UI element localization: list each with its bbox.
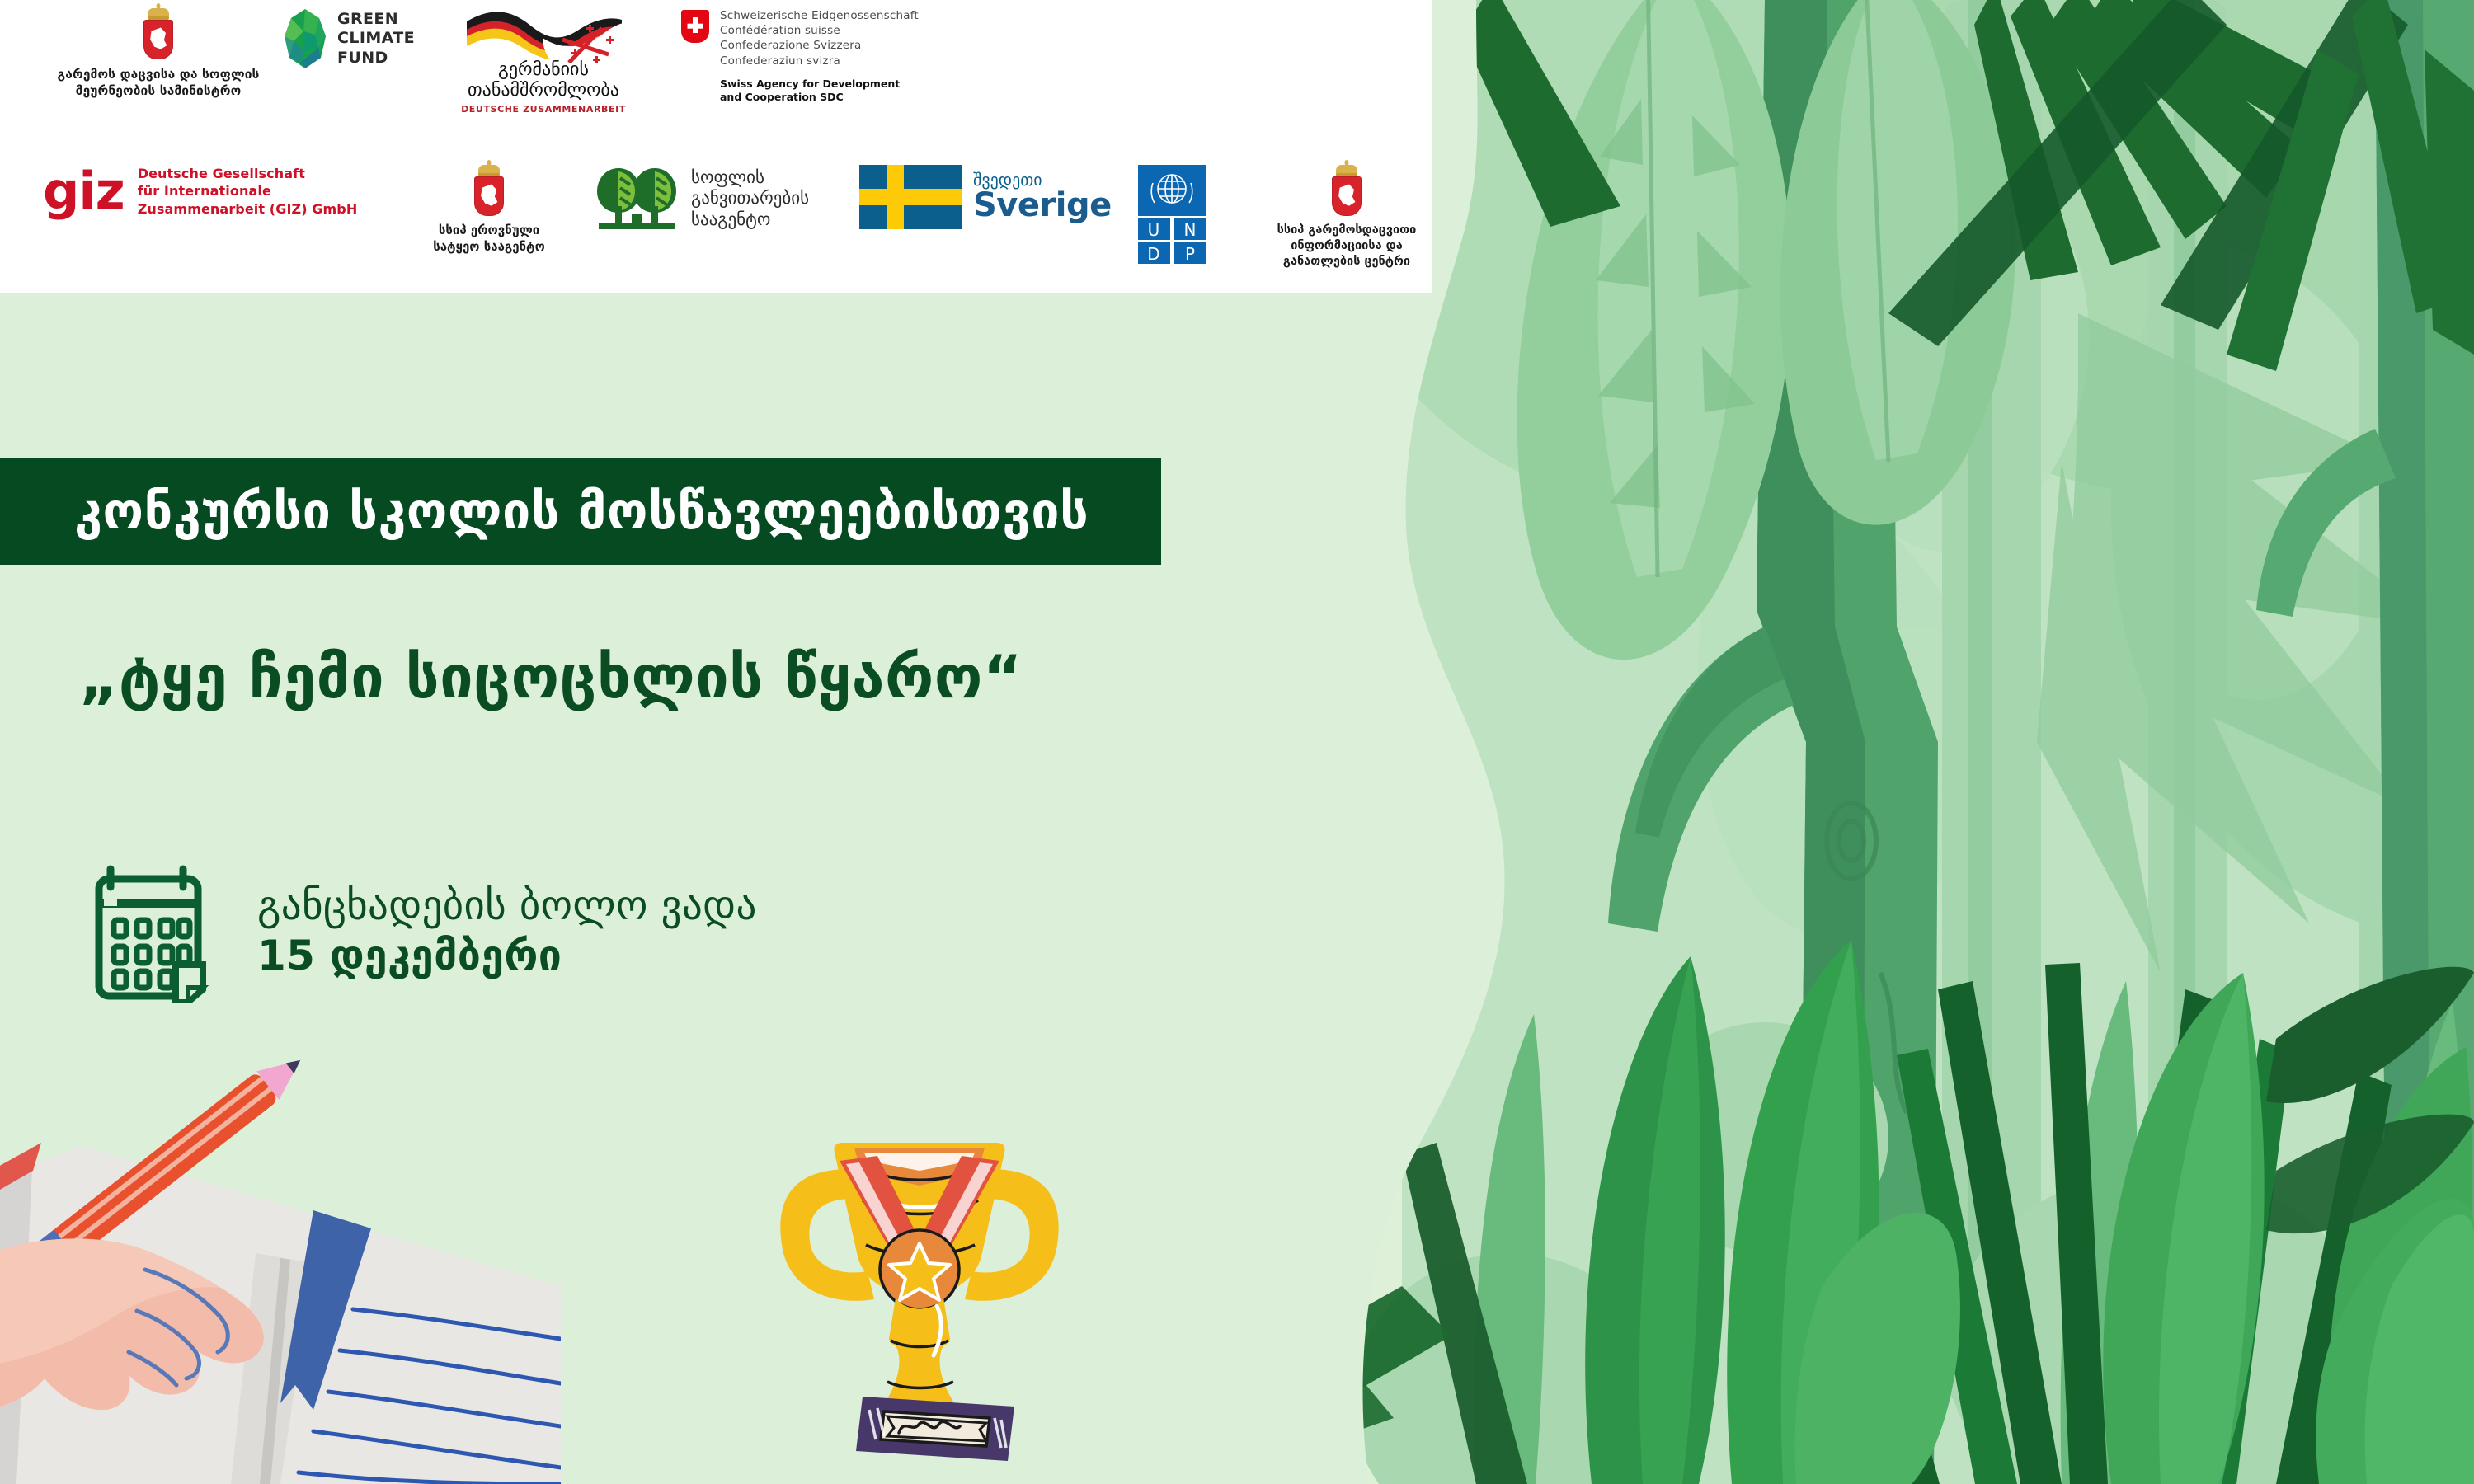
logo-sweden-sverige: შვედეთი Sverige xyxy=(859,165,1107,229)
logo-german-cooperation-label-de: DEUTSCHE ZUSAMMENARBEIT xyxy=(461,104,626,115)
logo-row-top: გარემოს დაცვისა და სოფლის მეურნეობის სამ… xyxy=(43,8,919,115)
poster-canvas: გარემოს დაცვისა და სოფლის მეურნეობის სამ… xyxy=(0,0,2474,1484)
sweden-flag-icon xyxy=(859,165,962,229)
logo-german-cooperation-label-ka: გერმანიის თანამშრომლობა xyxy=(468,59,619,101)
giz-wordmark-icon: giz xyxy=(43,171,125,213)
logo-ministry-label: გარემოს დაცვისა და სოფლის მეურნეობის სამ… xyxy=(58,66,260,100)
logo-sweden-label-ka: შვედეთი xyxy=(973,171,1112,188)
logo-eic-label: სსიპ გარემოსდაცვითი ინფორმაციისა და განა… xyxy=(1277,223,1417,270)
hand-writing-in-notebook-illustration xyxy=(0,1022,561,1484)
deadline-block: განცხადების ბოლო ვადა 15 დეკემბერი xyxy=(92,864,757,1003)
partner-logo-header: გარემოს დაცვისა და სოფლის მეურნეობის სამ… xyxy=(0,0,1431,293)
logo-national-forestry-agency: სსიპ ეროვნული სატყეო სააგენტო xyxy=(402,165,576,255)
logo-row-bottom: giz Deutsche Gesellschaft für Internatio… xyxy=(43,165,1450,270)
georgia-coat-of-arms-icon xyxy=(1332,165,1362,216)
deadline-label: განცხადების ბოლო ვადა xyxy=(257,884,757,929)
georgia-coat-of-arms-icon xyxy=(143,8,173,59)
logo-undp: U N D P xyxy=(1110,165,1234,264)
logo-environmental-information-centre: სსიპ გარემოსდაცვითი ინფორმაციისა და განა… xyxy=(1244,165,1450,270)
georgia-coat-of-arms-icon xyxy=(474,165,504,216)
logo-nfa-label: სსიპ ეროვნული სატყეო სააგენტო xyxy=(433,223,545,255)
two-trees-house-icon xyxy=(594,165,680,232)
logo-swiss-agency-label: Swiss Agency for Development and Coopera… xyxy=(720,77,919,105)
logo-giz: giz Deutsche Gesellschaft für Internatio… xyxy=(43,165,397,218)
svg-text:U: U xyxy=(1148,220,1160,240)
logo-ministry-of-environmental-protection: გარემოს დაცვისა და სოფლის მეურნეობის სამ… xyxy=(43,8,274,100)
logo-sweden-label-en: Sverige xyxy=(973,188,1112,223)
page-title: კონკურსი სკოლის მოსწავლეებისთვის xyxy=(74,486,1089,537)
svg-text:N: N xyxy=(1184,220,1197,240)
trophy-illustration xyxy=(742,1121,1097,1484)
german-georgian-flag-ribbon-icon xyxy=(463,8,624,63)
headline-banner: კონკურსი სკოლის მოსწავლეებისთვის xyxy=(0,458,1161,565)
logo-gcf-label: GREEN CLIMATE FUND xyxy=(337,10,415,68)
swiss-shield-icon xyxy=(681,10,709,43)
svg-text:P: P xyxy=(1185,244,1195,264)
logo-green-climate-fund: GREEN CLIMATE FUND xyxy=(282,8,430,69)
logo-rural-development-agency: სოფლის განვითარების სააგენტო xyxy=(594,165,849,232)
svg-text:D: D xyxy=(1147,244,1159,264)
logo-giz-label: Deutsche Gesellschaft für Internationale… xyxy=(138,165,358,218)
gcf-gem-icon xyxy=(282,8,328,69)
logo-swiss-languages: Schweizerische Eidgenossenschaft Confédé… xyxy=(720,8,919,68)
logo-swiss-agency-sdc: Schweizerische Eidgenossenschaft Confédé… xyxy=(681,8,919,104)
calendar-icon xyxy=(92,864,218,1003)
undp-logo-icon: U N D P xyxy=(1138,165,1206,264)
deadline-date: 15 დეკემბერი xyxy=(257,929,757,983)
logo-german-cooperation: გერმანიის თანამშრომლობა DEUTSCHE ZUSAMME… xyxy=(449,8,638,115)
logo-rda-label: სოფლის განვითარების სააგენტო xyxy=(691,167,809,231)
contest-theme-subtitle: „ტყე ჩემი სიცოცხლის წყარო“ xyxy=(79,647,1023,707)
